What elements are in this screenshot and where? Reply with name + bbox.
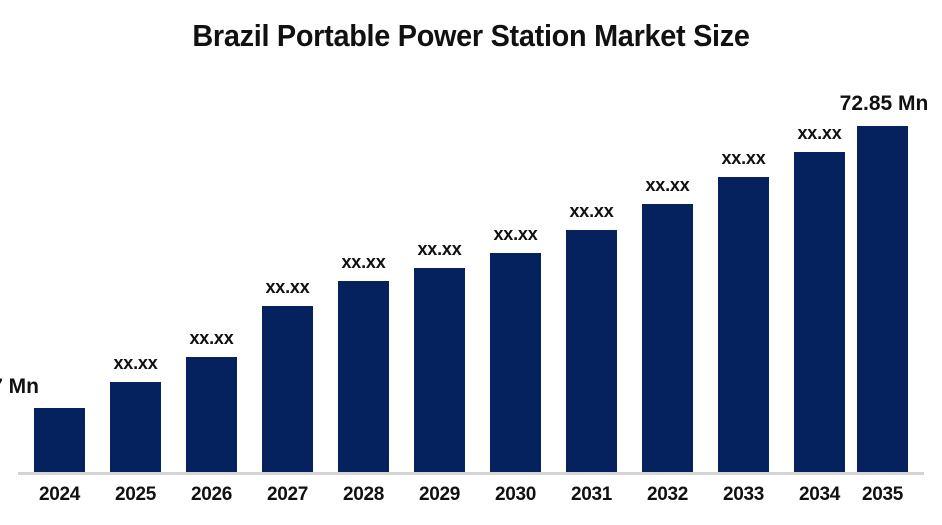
axis-label-2028: 2028 — [338, 484, 389, 506]
axis-label-2034: 2034 — [794, 484, 845, 506]
axis-label-2030: 2030 — [490, 484, 541, 506]
chart-container: Brazil Portable Power Station Market Siz… — [0, 0, 942, 525]
bar-2026[interactable] — [186, 357, 237, 473]
bar-2031[interactable] — [566, 230, 617, 473]
bar-2027[interactable] — [262, 306, 313, 473]
axis-label-2029: 2029 — [414, 484, 465, 506]
bar-group-2028: xx.xx — [338, 0, 389, 473]
bar-group-2027: xx.xx — [262, 0, 313, 473]
bar-value-label-2026: xx.xx — [189, 328, 233, 349]
bar-value-label-2029: xx.xx — [417, 239, 461, 260]
bar-group-2033: xx.xx — [718, 0, 769, 473]
x-axis-line — [18, 472, 924, 475]
axis-label-2026: 2026 — [186, 484, 237, 506]
axis-label-2032: 2032 — [642, 484, 693, 506]
bar-group-2035: 72.85 Mn — [857, 0, 908, 473]
bar-2034[interactable] — [794, 152, 845, 473]
bar-2035[interactable] — [857, 126, 908, 473]
plot-area: 13.67 Mn xx.xx xx.xx xx.xx xx.xx xx.xx x… — [0, 0, 942, 473]
bar-value-label-2033: xx.xx — [721, 148, 765, 169]
bar-value-label-2030: xx.xx — [493, 224, 537, 245]
bar-value-label-2031: xx.xx — [569, 201, 613, 222]
x-axis-labels: 2024 2025 2026 2027 2028 2029 2030 2031 … — [0, 484, 942, 514]
bar-group-2025: xx.xx — [110, 0, 161, 473]
bar-value-label-2027: xx.xx — [265, 277, 309, 298]
bar-2025[interactable] — [110, 382, 161, 473]
axis-label-2025: 2025 — [110, 484, 161, 506]
bar-value-label-2024: 13.67 Mn — [0, 375, 39, 399]
axis-label-2031: 2031 — [566, 484, 617, 506]
bar-group-2032: xx.xx — [642, 0, 693, 473]
bar-2033[interactable] — [718, 177, 769, 473]
axis-label-2024: 2024 — [34, 484, 85, 506]
bar-group-2029: xx.xx — [414, 0, 465, 473]
bar-group-2031: xx.xx — [566, 0, 617, 473]
axis-label-2035: 2035 — [857, 484, 908, 506]
bar-group-2034: xx.xx — [794, 0, 845, 473]
bar-group-2030: xx.xx — [490, 0, 541, 473]
bar-value-label-2035: 72.85 Mn — [840, 92, 929, 116]
bar-2032[interactable] — [642, 204, 693, 473]
bar-value-label-2025: xx.xx — [113, 353, 157, 374]
bar-group-2026: xx.xx — [186, 0, 237, 473]
bar-2029[interactable] — [414, 268, 465, 473]
bar-2030[interactable] — [490, 253, 541, 473]
axis-label-2033: 2033 — [718, 484, 769, 506]
bar-2028[interactable] — [338, 281, 389, 473]
bar-value-label-2032: xx.xx — [645, 175, 689, 196]
bar-2024[interactable] — [34, 408, 85, 473]
bar-value-label-2034: xx.xx — [797, 123, 841, 144]
bar-group-2024: 13.67 Mn — [34, 0, 85, 473]
axis-label-2027: 2027 — [262, 484, 313, 506]
bar-value-label-2028: xx.xx — [341, 252, 385, 273]
